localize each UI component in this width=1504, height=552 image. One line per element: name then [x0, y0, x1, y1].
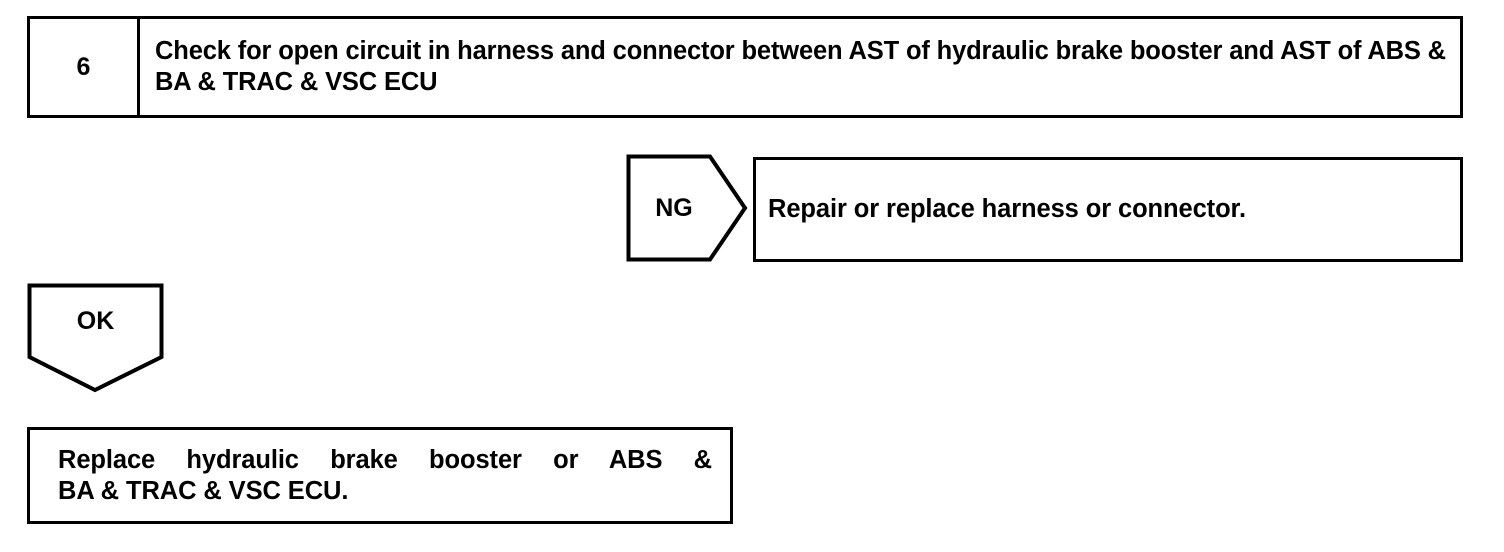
step-instruction-cell: Check for open circuit in harness and co… [143, 19, 1460, 115]
flowchart-canvas: 6 Check for open circuit in harness and … [0, 0, 1504, 552]
ok-action-line-1: Replace hydraulic brake booster or ABS & [58, 445, 712, 476]
ng-action-text: Repair or replace harness or connector. [768, 194, 1246, 225]
ok-arrow-shape [27, 283, 164, 393]
step-instruction-text: Check for open circuit in harness and co… [155, 36, 1452, 98]
ok-action-text: Replace hydraulic brake booster or ABS &… [58, 445, 712, 506]
step-number: 6 [77, 53, 91, 82]
step-number-cell: 6 [30, 19, 140, 115]
step-box: 6 Check for open circuit in harness and … [27, 16, 1463, 118]
ok-action-line-2: BA & TRAC & VSC ECU. [58, 476, 712, 507]
ng-arrow-shape [626, 154, 748, 262]
ng-action-box: Repair or replace harness or connector. [753, 157, 1463, 262]
ok-action-box: Replace hydraulic brake booster or ABS &… [27, 427, 733, 524]
